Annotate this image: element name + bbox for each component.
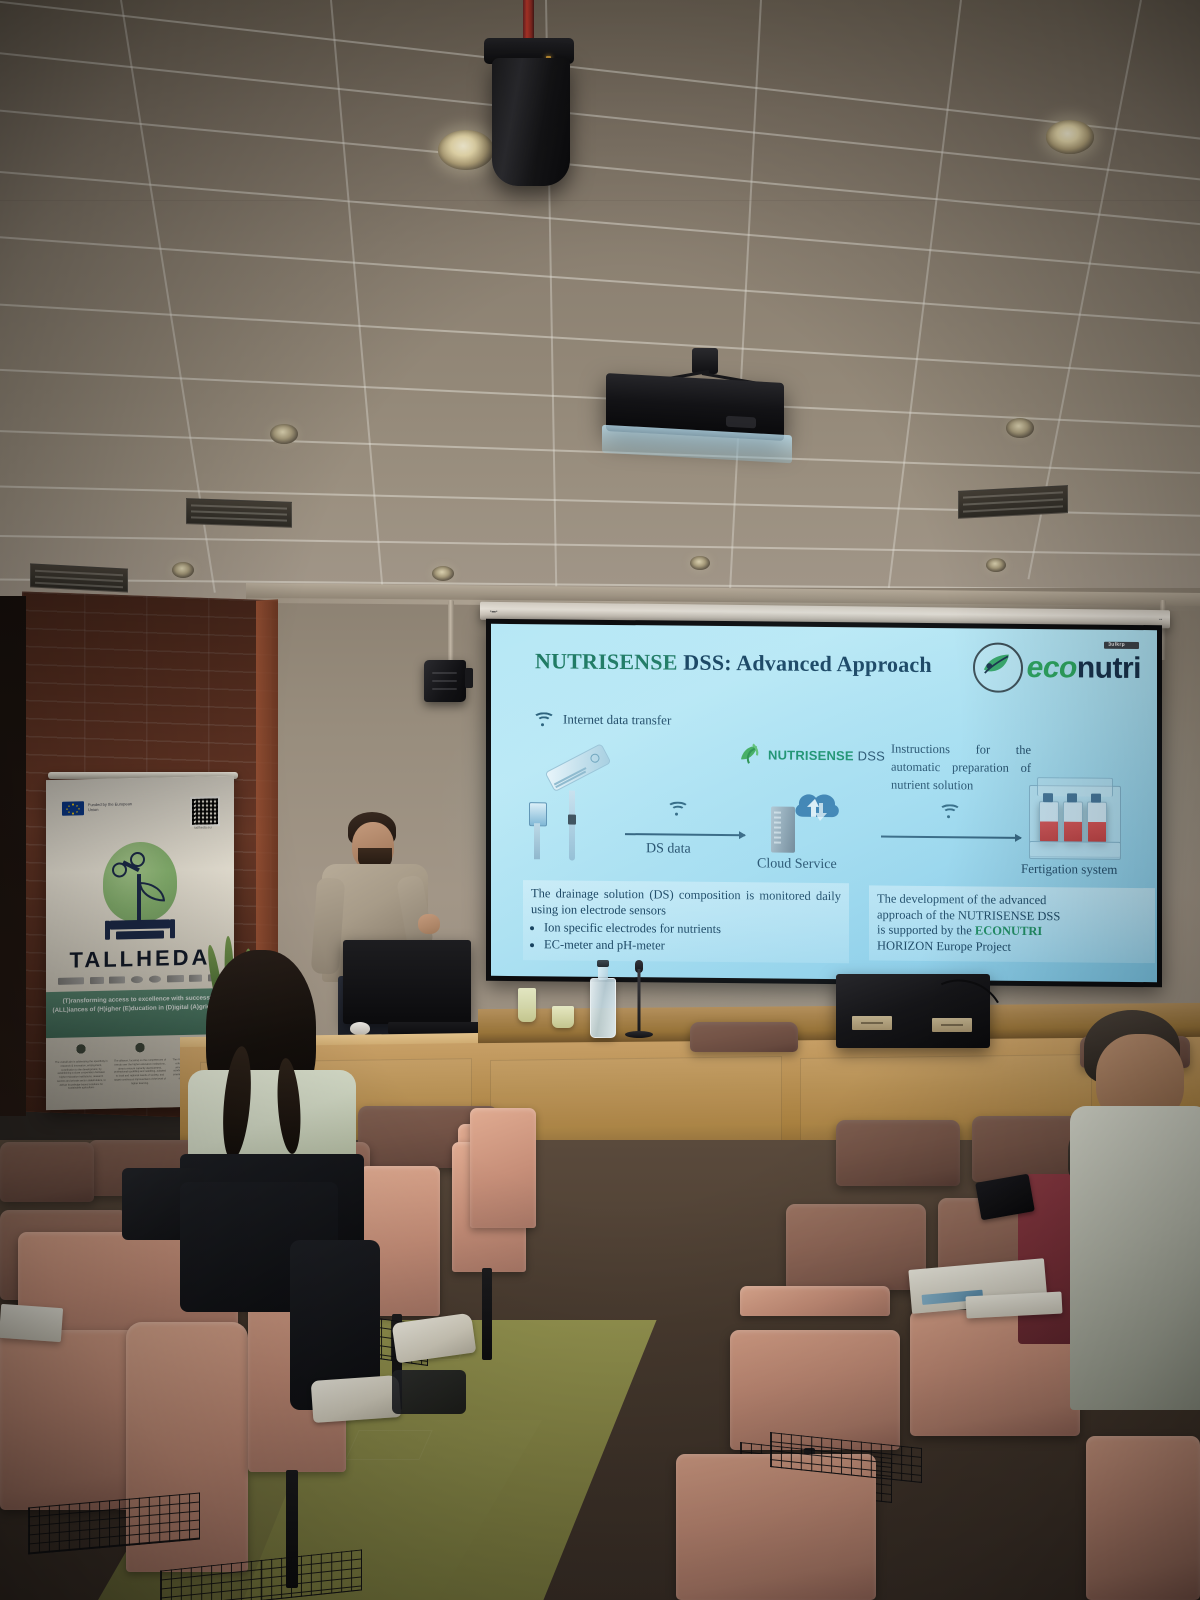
wifi-icon [939, 804, 959, 820]
attendee-grey [1070, 1010, 1200, 1410]
paper-cup [552, 1006, 574, 1028]
ceiling-mount-pole [523, 0, 534, 38]
ceiling-downlight [270, 424, 298, 444]
auditorium-seat [676, 1454, 876, 1600]
econutri-wordmark: econutri 3ulkrp [1027, 653, 1141, 684]
list-item: Ion specific electrodes for nutrients [544, 921, 841, 939]
label-cloud-service: Cloud Service [757, 856, 837, 873]
papers-on-seat [0, 1304, 63, 1342]
seat-wire-rack [770, 1440, 920, 1474]
nutrisense-dss-label: NUTRISENSE DSS [768, 747, 885, 763]
cloud-icon [791, 787, 843, 825]
seat-wire-rack [160, 1560, 360, 1600]
ceiling-downlight [438, 130, 494, 170]
ceiling-downlight [690, 556, 710, 570]
label-ds-data: DS data [646, 841, 691, 857]
auditorium-seat [730, 1330, 900, 1450]
seat-wire-rack [28, 1500, 198, 1546]
right-info-line4: HORIZON Europe Project [877, 938, 1147, 956]
wall-speaker [424, 660, 466, 702]
econutri-highlight: ECONUTRI [975, 924, 1042, 939]
wifi-icon [533, 712, 553, 728]
list-item: EC-meter and pH-meter [544, 937, 841, 955]
auditorium-seat [836, 1120, 960, 1186]
fertigation-system-illustration [1025, 777, 1123, 864]
auditorium-seat [1086, 1436, 1200, 1600]
auditorium-seat [786, 1204, 926, 1290]
attendee-shoe [311, 1375, 402, 1423]
auditorium-seat [690, 1022, 798, 1052]
auditorium-seat [0, 1142, 94, 1202]
label-internet-data-transfer: Internet data transfer [563, 711, 671, 728]
nutrisense-dss-mark: NUTRISENSE DSS [737, 741, 885, 768]
water-bottle [590, 978, 616, 1038]
label-instructions: Instructions for the automatic preparati… [891, 740, 1031, 796]
ceiling-air-vent [958, 485, 1068, 519]
ceiling-downlight [1046, 120, 1094, 154]
econutri-leaf-emblem-icon [973, 642, 1023, 692]
ceiling-air-vent [186, 498, 292, 528]
ceiling-air-vent [30, 563, 128, 592]
attendee-grey-torso [1070, 1106, 1200, 1410]
econutri-logo: econutri 3ulkrp [973, 642, 1141, 694]
desk-microphone [622, 960, 656, 1038]
left-info-bullets: Ion specific electrodes for nutrients EC… [531, 920, 841, 955]
nutrisense-leaf-icon [737, 741, 763, 767]
ec-meter-illustration [529, 802, 545, 858]
flow-arrow-instructions [881, 836, 1021, 839]
hanging-cylinder-device [492, 58, 570, 186]
projection-screen-frame: NUTRISENSE DSS: Advanced Approach econut… [486, 619, 1162, 987]
flow-arrow-ds-data [625, 833, 745, 836]
left-info-box: The drainage solution (DS) composition i… [523, 880, 849, 963]
slide-title-highlight: NUTRISENSE [535, 648, 678, 674]
ph-probe-illustration [567, 791, 577, 861]
presenter-hand [418, 914, 440, 934]
econutri-tag: 3ulkrp [1104, 642, 1139, 649]
auditorium-seat-armrest [740, 1286, 890, 1316]
ceiling-downlight [1006, 418, 1034, 438]
ceiling-downlight [432, 566, 454, 581]
slide-title-rest: DSS: Advanced Approach [678, 650, 932, 677]
screen-brand-logo: ▪▬▪ [490, 608, 498, 613]
wall-dark-recess [0, 596, 26, 1116]
screen-brand-mark: ▪▪ [1159, 617, 1162, 622]
slide-title: NUTRISENSE DSS: Advanced Approach [535, 648, 932, 678]
ceiling-downlight [986, 558, 1006, 572]
auditorium-seat-armrest [470, 1108, 536, 1228]
presentation-slide: NUTRISENSE DSS: Advanced Approach econut… [491, 624, 1157, 982]
label-fertigation-system: Fertigation system [1021, 861, 1117, 878]
ceiling-downlight [172, 562, 194, 578]
attendee-floor-bag [392, 1370, 466, 1414]
suspended-ceiling [0, 0, 1200, 620]
left-info-paragraph: The drainage solution (DS) composition i… [531, 886, 841, 920]
sensor-strip-illustration [545, 743, 612, 792]
lecture-hall-photo: ▪▬▪ ▪▪ NUTRISENSE DSS: Advanced Approach [0, 0, 1200, 1600]
floor-panel [345, 1430, 432, 1460]
right-info-box: The development of the advanced approach… [869, 885, 1155, 962]
wifi-icon [667, 801, 687, 817]
paper-cup [518, 988, 536, 1022]
